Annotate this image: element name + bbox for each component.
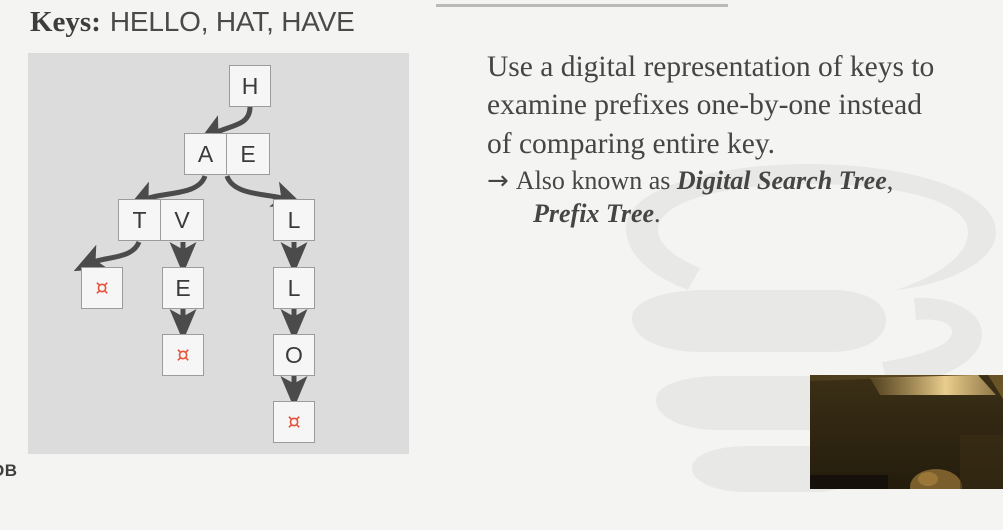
explanation-paragraph: Use a digital representation of keys to … [487, 48, 947, 163]
trie-node-label: A [185, 134, 227, 174]
header-divider-rule [436, 4, 728, 7]
title-label: Keys: [30, 6, 101, 38]
trie-node-terminal-have[interactable]: ¤ [162, 334, 204, 376]
trie-node-terminal-hello[interactable]: ¤ [273, 401, 315, 443]
trie-node-label: T [119, 200, 161, 240]
explanation-subpoint: →Also known as Digital Search Tree, Pref… [487, 165, 947, 229]
trie-edges-layer [28, 53, 409, 454]
subpoint-term-1: Digital Search Tree [677, 166, 887, 195]
trie-node-l2[interactable]: L [273, 267, 315, 309]
explanation-text-block: Use a digital representation of keys to … [487, 48, 947, 229]
edge-ae-tv [141, 176, 205, 201]
subpoint-separator: , [887, 166, 894, 195]
webcam-frame [810, 375, 1003, 489]
trie-node-label: L [288, 207, 301, 234]
subpoint-second-line: Prefix Tree. [533, 198, 947, 230]
edge-h-ae [211, 107, 250, 135]
terminal-marker-icon: ¤ [95, 278, 108, 299]
trie-node-e2[interactable]: E [162, 267, 204, 309]
subpoint-suffix: . [654, 199, 661, 228]
trie-node-label: V [161, 200, 203, 240]
terminal-marker-icon: ¤ [176, 345, 189, 366]
trie-node-label: E [175, 275, 190, 302]
subpoint-prefix: Also known as [516, 166, 677, 195]
trie-node-l1[interactable]: L [273, 199, 315, 241]
right-arrow-icon: → [487, 166, 509, 196]
edge-ae-l1 [227, 176, 289, 200]
page-title: Keys:HELLO, HAT, HAVE [30, 6, 355, 39]
trie-node-tv[interactable]: T V [118, 199, 204, 241]
edge-tv-end1 [88, 242, 139, 264]
terminal-marker-icon: ¤ [287, 412, 300, 433]
trie-node-ae[interactable]: A E [184, 133, 270, 175]
trie-node-label: H [242, 73, 259, 100]
trie-diagram-panel: H A E T V L ¤ E L ¤ O ¤ [28, 53, 409, 454]
trie-node-label: O [285, 342, 303, 369]
webcam-video-thumbnail[interactable] [810, 375, 1003, 489]
trie-node-label: E [227, 134, 269, 174]
subpoint-term-2: Prefix Tree [533, 199, 654, 228]
footer-note: DB [0, 461, 18, 481]
title-keys: HELLO, HAT, HAVE [110, 6, 355, 37]
trie-node-terminal-hat[interactable]: ¤ [81, 267, 123, 309]
trie-node-h[interactable]: H [229, 65, 271, 107]
trie-node-label: L [288, 275, 301, 302]
trie-node-o[interactable]: O [273, 334, 315, 376]
